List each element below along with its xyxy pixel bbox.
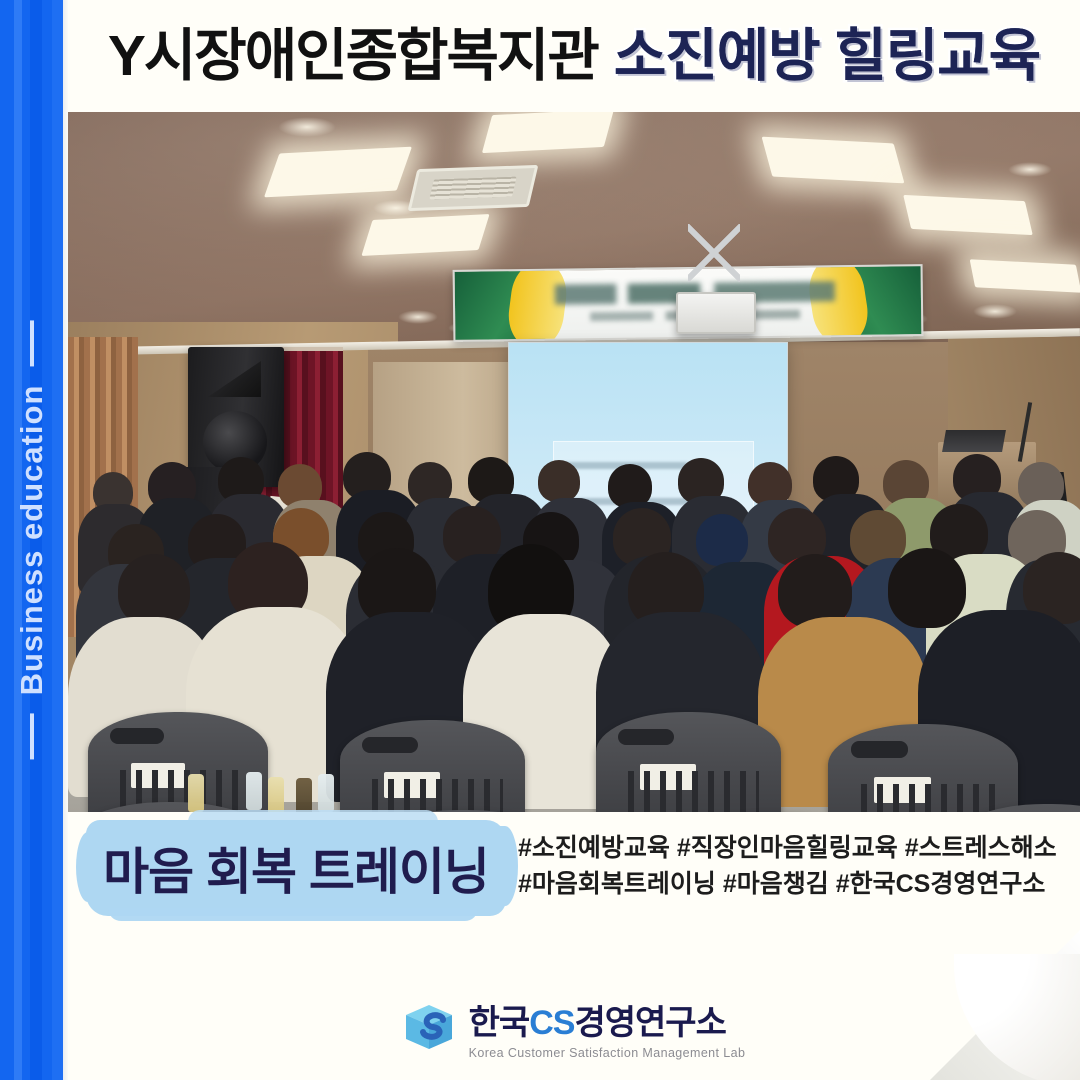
chair-handle [851, 741, 908, 758]
chair [340, 720, 525, 812]
ceiling-downlight [278, 117, 336, 137]
rail-dash-right [30, 321, 34, 367]
chair [828, 724, 1018, 812]
header-bar: Y시장애인종합복지관 소진예방 힐링교육 [68, 0, 1080, 112]
banner-green-right [831, 266, 922, 335]
footer-logo: 한국CS경영연구소 Korea Customer Satisfaction Ma… [68, 975, 1080, 1080]
chair [88, 712, 268, 812]
promotional-card: Business education Y시장애인종합복지관 소진예방 힐링교육 [0, 0, 1080, 1080]
logo-subtitle: Korea Customer Satisfaction Management L… [469, 1046, 746, 1060]
chair-handle [618, 729, 674, 746]
ceiling-light-panel [361, 214, 489, 256]
laptop [942, 430, 1006, 452]
hashtag-block: #소진예방교육 #직장인마음힐링교육 #스트레스해소 #마음회복트레이닝 #마음… [518, 830, 1078, 903]
ceiling-projector [676, 292, 756, 334]
ceiling-downlight [398, 310, 438, 324]
rail-stripe-mid [52, 0, 63, 1080]
event-photo [68, 112, 1080, 812]
headline-text: 마음 회복 트레이닝 [96, 830, 496, 906]
ceiling-light-panel [903, 195, 1033, 235]
highlight-brush-bottom [108, 908, 478, 921]
logo-wordmark: 한국CS경영연구소 [469, 995, 746, 1044]
ceiling-downlight [973, 304, 1017, 319]
rail-dash-left [30, 713, 34, 759]
hashtag-line-2: #마음회복트레이닝 #마음챙김 #한국CS경영연구소 [518, 866, 1078, 902]
logo-cs: CS [529, 1004, 574, 1042]
water-bottle [246, 772, 262, 810]
chair [596, 712, 781, 812]
banner-green-left [455, 271, 546, 340]
audience-head [538, 460, 580, 502]
air-conditioner-vent [408, 165, 539, 211]
audience-head-with-cap [696, 514, 748, 566]
caption-band: 마음 회복 트레이닝 #소진예방교육 #직장인마음힐링교육 #스트레스해소 #마… [68, 812, 1080, 972]
rail-label: Business education [14, 385, 50, 696]
chair-slats [618, 771, 759, 812]
projector-mount-arm [688, 224, 740, 282]
ceiling-light-panel [970, 259, 1080, 292]
page-title: Y시장애인종합복지관 소진예방 힐링교육 [108, 28, 1040, 85]
water-bottle [296, 778, 312, 812]
audience-head [118, 554, 190, 626]
ceiling-downlight [1008, 162, 1052, 177]
sidebar-rail: Business education [0, 0, 63, 1080]
ceiling-light-panel [762, 137, 905, 184]
chair-slats [362, 779, 503, 812]
cube-s-logo-icon [403, 1002, 455, 1054]
logo-korean-prefix: 한국 [469, 1004, 530, 1042]
audience-head-ponytail [888, 548, 966, 628]
water-bottle [188, 774, 204, 812]
logo-korean-suffix: 경영연구소 [574, 1004, 725, 1042]
title-organization: Y시장애인종합복지관 [108, 28, 598, 85]
hashtag-line-1: #소진예방교육 #직장인마음힐링교육 #스트레스해소 [518, 830, 1078, 866]
water-bottle [318, 774, 334, 812]
logo-text-group: 한국CS경영연구소 Korea Customer Satisfaction Ma… [469, 995, 746, 1060]
water-bottle [268, 777, 284, 812]
rail-label-group: Business education [14, 321, 50, 760]
ceiling-light-panel [482, 112, 614, 153]
chair-slats [851, 784, 995, 812]
ceiling-light-panel [264, 147, 412, 198]
chair-handle [362, 737, 418, 754]
title-program: 소진예방 힐링교육 [614, 28, 1040, 85]
chair-handle [110, 728, 164, 744]
